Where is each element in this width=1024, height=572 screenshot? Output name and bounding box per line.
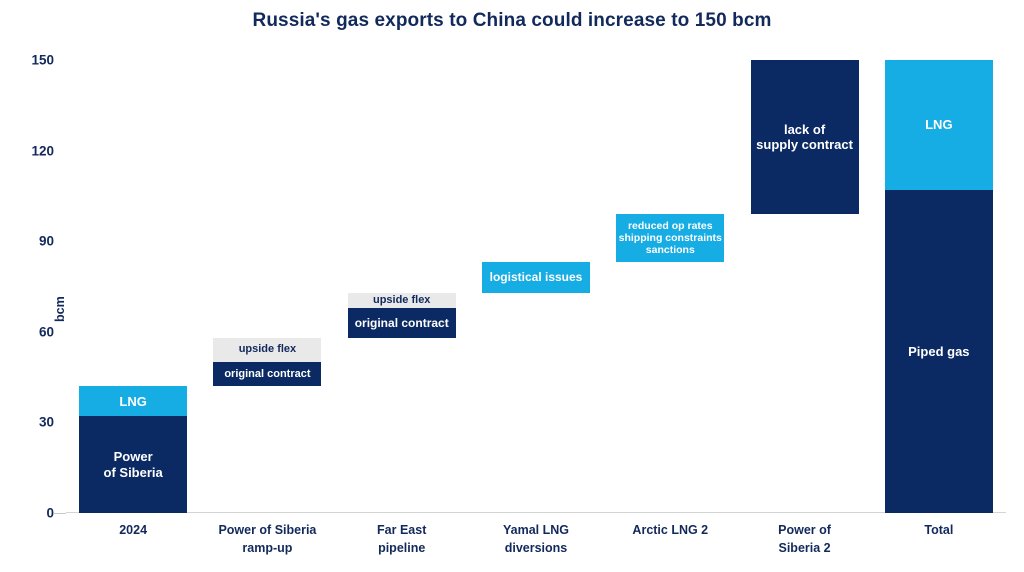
- bar-segment-label-line: lack of: [753, 122, 857, 137]
- bar-segment-label: original contract: [348, 316, 456, 330]
- x-axis-label-line: pipeline: [335, 539, 469, 557]
- x-axis-label-line: Yamal LNG: [469, 521, 603, 539]
- plot-area: bcm 0306090120150 Powerof SiberiaLNGorig…: [66, 60, 1006, 513]
- bar-segment-label-line: supply contract: [753, 137, 857, 152]
- bar-segment-label-line: sanctions: [618, 244, 722, 256]
- bar-segment-label-line: LNG: [887, 117, 991, 132]
- bar-group[interactable]: Powerof SiberiaLNG: [79, 60, 187, 513]
- y-axis-tick-label: 150: [31, 53, 54, 68]
- x-axis-label: Power of Siberiaramp-up: [200, 521, 334, 557]
- bar-segment-label-line: original contract: [215, 368, 319, 381]
- x-axis-label-line: Total: [872, 521, 1006, 539]
- x-axis-label-line: diversions: [469, 539, 603, 557]
- bar-segment-label-line: upside flex: [215, 343, 319, 356]
- bar-segment-label: upside flex: [348, 294, 456, 307]
- x-axis-label: Power ofSiberia 2: [737, 521, 871, 557]
- x-axis-label: 2024: [66, 521, 200, 539]
- bar-segment-label-line: LNG: [81, 394, 185, 409]
- bar-segment[interactable]: original contract: [348, 308, 456, 338]
- bar-segment-label-line: of Siberia: [81, 465, 185, 480]
- bar-segment-label-line: original contract: [350, 316, 454, 330]
- x-axis-label-line: Power of: [737, 521, 871, 539]
- x-axis-label-line: Arctic LNG 2: [603, 521, 737, 539]
- bar-segment-label-line: Power: [81, 449, 185, 464]
- bar-segment[interactable]: logistical issues: [482, 262, 590, 292]
- bar-segment-label: original contract: [213, 368, 321, 381]
- bar-segment[interactable]: lack ofsupply contract: [751, 60, 859, 214]
- bar-segment[interactable]: original contract: [213, 362, 321, 386]
- x-axis-label-line: Siberia 2: [737, 539, 871, 557]
- bar-segment-label: reduced op ratesshipping constraintssanc…: [616, 220, 724, 257]
- bar-group[interactable]: reduced op ratesshipping constraintssanc…: [616, 60, 724, 513]
- bar-segment[interactable]: upside flex: [348, 293, 456, 308]
- bar-segment-label-line: reduced op rates: [618, 220, 722, 232]
- bar-segment[interactable]: reduced op ratesshipping constraintssanc…: [616, 214, 724, 262]
- bar-segment-label: LNG: [79, 394, 187, 409]
- bar-segment-label: logistical issues: [482, 270, 590, 284]
- x-axis-label: Arctic LNG 2: [603, 521, 737, 539]
- bar-segment[interactable]: LNG: [79, 386, 187, 416]
- page-title: Russia's gas exports to China could incr…: [0, 10, 1024, 32]
- bar-segment-label-line: logistical issues: [484, 270, 588, 284]
- bar-segment-label-line: shipping constraints: [618, 232, 722, 244]
- bar-segment-label-line: Piped gas: [887, 344, 991, 359]
- y-axis-title: bcm: [53, 296, 67, 322]
- y-axis-tick-label: 0: [46, 506, 54, 521]
- bar-group[interactable]: original contractupside flex: [348, 60, 456, 513]
- x-axis-label: Far Eastpipeline: [335, 521, 469, 557]
- bar-group[interactable]: logistical issues: [482, 60, 590, 513]
- bar-segment-label: Powerof Siberia: [79, 449, 187, 480]
- bar-segment[interactable]: Piped gas: [885, 190, 993, 513]
- bar-segment[interactable]: Powerof Siberia: [79, 416, 187, 513]
- bar-segment-label: LNG: [885, 117, 993, 132]
- bar-segment-label: Piped gas: [885, 344, 993, 359]
- bar-group[interactable]: lack ofsupply contract: [751, 60, 859, 513]
- y-axis-tick-label: 60: [39, 324, 54, 339]
- x-axis-label-line: 2024: [66, 521, 200, 539]
- bar-segment[interactable]: LNG: [885, 60, 993, 190]
- x-axis-label-line: Far East: [335, 521, 469, 539]
- waterfall-chart: Russia's gas exports to China could incr…: [0, 0, 1024, 572]
- x-axis-label-line: Power of Siberia: [200, 521, 334, 539]
- bar-group[interactable]: Piped gasLNG: [885, 60, 993, 513]
- bar-segment[interactable]: upside flex: [213, 338, 321, 362]
- bar-segment-label: lack ofsupply contract: [751, 122, 859, 153]
- bar-group[interactable]: original contractupside flex: [213, 60, 321, 513]
- bar-segment-label: upside flex: [213, 343, 321, 356]
- y-axis-tick-mark: [54, 513, 66, 514]
- y-axis-tick-label: 90: [39, 234, 54, 249]
- y-axis-tick-label: 120: [31, 143, 54, 158]
- y-axis-tick-label: 30: [39, 415, 54, 430]
- x-axis-label: Total: [872, 521, 1006, 539]
- bar-segment-label-line: upside flex: [350, 294, 454, 307]
- x-axis-label: Yamal LNGdiversions: [469, 521, 603, 557]
- x-axis-label-line: ramp-up: [200, 539, 334, 557]
